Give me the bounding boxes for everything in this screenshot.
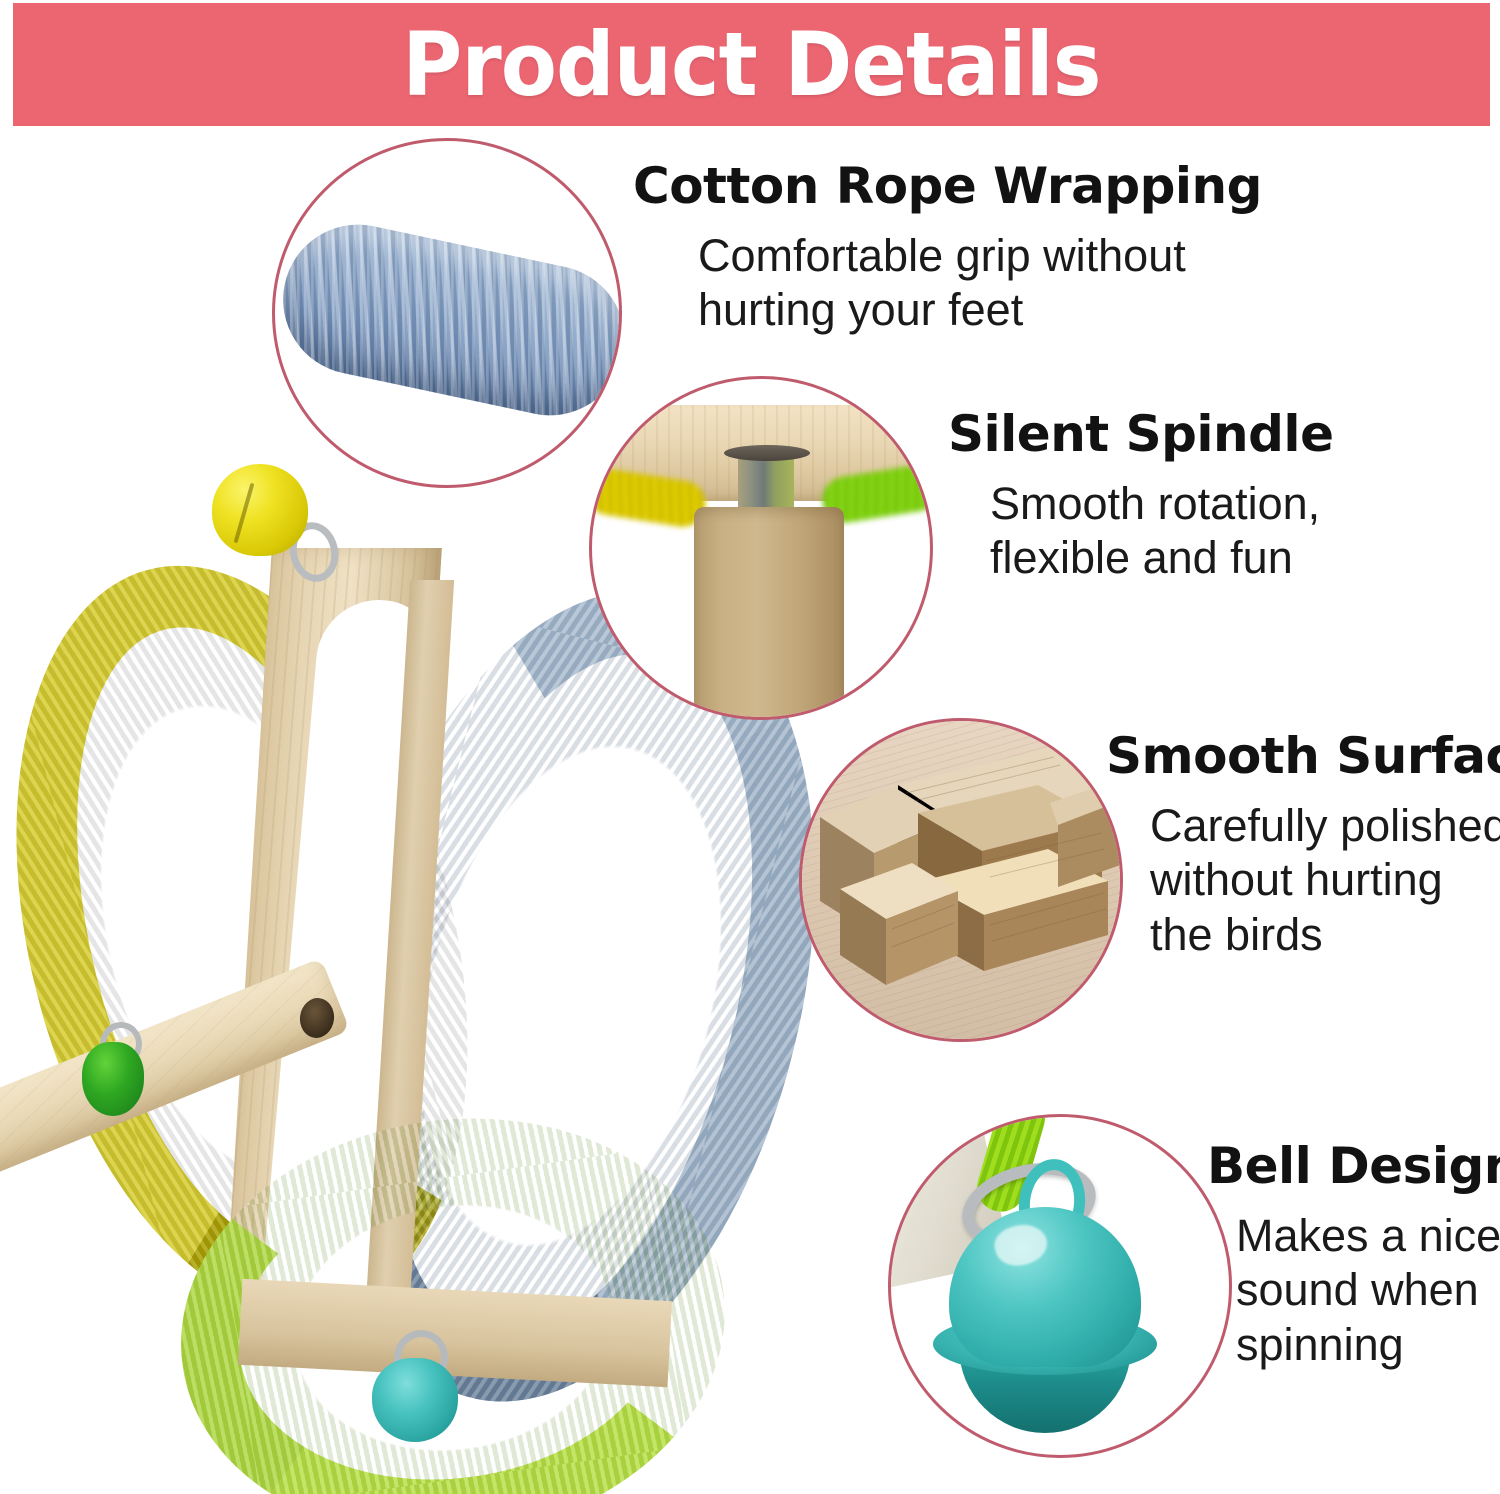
feature-heading: Bell Design xyxy=(1207,1140,1500,1193)
header-banner: Product Details xyxy=(13,3,1490,126)
feature-body: Carefully polished without hurting the b… xyxy=(1150,799,1500,964)
feature-bell-design: Bell Design Makes a nice sound when spin… xyxy=(1207,1140,1500,1373)
feature-body-line: Comfortable grip without xyxy=(698,229,1262,284)
feature-body-line: without hurting xyxy=(1150,853,1500,908)
inset-cotton-rope-wrapping xyxy=(272,138,622,488)
bell-closeup-image xyxy=(891,1117,1229,1455)
feature-body-line: hurting your feet xyxy=(698,283,1262,338)
inset-silent-spindle xyxy=(589,376,933,720)
cotton-rope-closeup-image xyxy=(275,141,619,485)
feature-body: Smooth rotation, flexible and fun xyxy=(990,477,1333,587)
feature-heading: Smooth Surface xyxy=(1106,730,1500,783)
feature-body-line: spinning xyxy=(1236,1318,1500,1373)
feature-silent-spindle: Silent Spindle Smooth rotation, flexible… xyxy=(948,408,1333,586)
wood-blocks-closeup-image xyxy=(802,721,1120,1039)
wooden-spindle-dowel xyxy=(694,507,844,717)
feature-body-line: Makes a nice xyxy=(1236,1209,1500,1264)
green-bell-icon xyxy=(82,1042,144,1116)
inset-bell-design xyxy=(888,1114,1232,1458)
feature-body-line: Carefully polished xyxy=(1150,799,1500,854)
feature-heading: Cotton Rope Wrapping xyxy=(633,160,1262,213)
blue-cotton-rope-segment xyxy=(275,211,619,430)
spindle-cap xyxy=(724,445,810,461)
feature-cotton-rope-wrapping: Cotton Rope Wrapping Comfortable grip wi… xyxy=(633,160,1262,338)
feature-body-line: flexible and fun xyxy=(990,531,1333,586)
product-details-infographic: Product Details xyxy=(0,0,1500,1494)
feature-heading: Silent Spindle xyxy=(948,408,1333,461)
stacked-wood-blocks xyxy=(802,721,1120,1039)
spindle-closeup-image xyxy=(592,379,930,717)
feature-body-line: the birds xyxy=(1150,908,1500,963)
feature-body-line: sound when xyxy=(1236,1263,1500,1318)
page-title: Product Details xyxy=(402,21,1100,109)
feature-body: Comfortable grip without hurting your fe… xyxy=(698,229,1262,339)
feature-body: Makes a nice sound when spinning xyxy=(1236,1209,1500,1374)
inset-smooth-surface xyxy=(799,718,1123,1042)
teal-bell-icon xyxy=(372,1358,458,1442)
feature-smooth-surface: Smooth Surface Carefully polished withou… xyxy=(1106,730,1500,963)
feature-body-line: Smooth rotation, xyxy=(990,477,1333,532)
